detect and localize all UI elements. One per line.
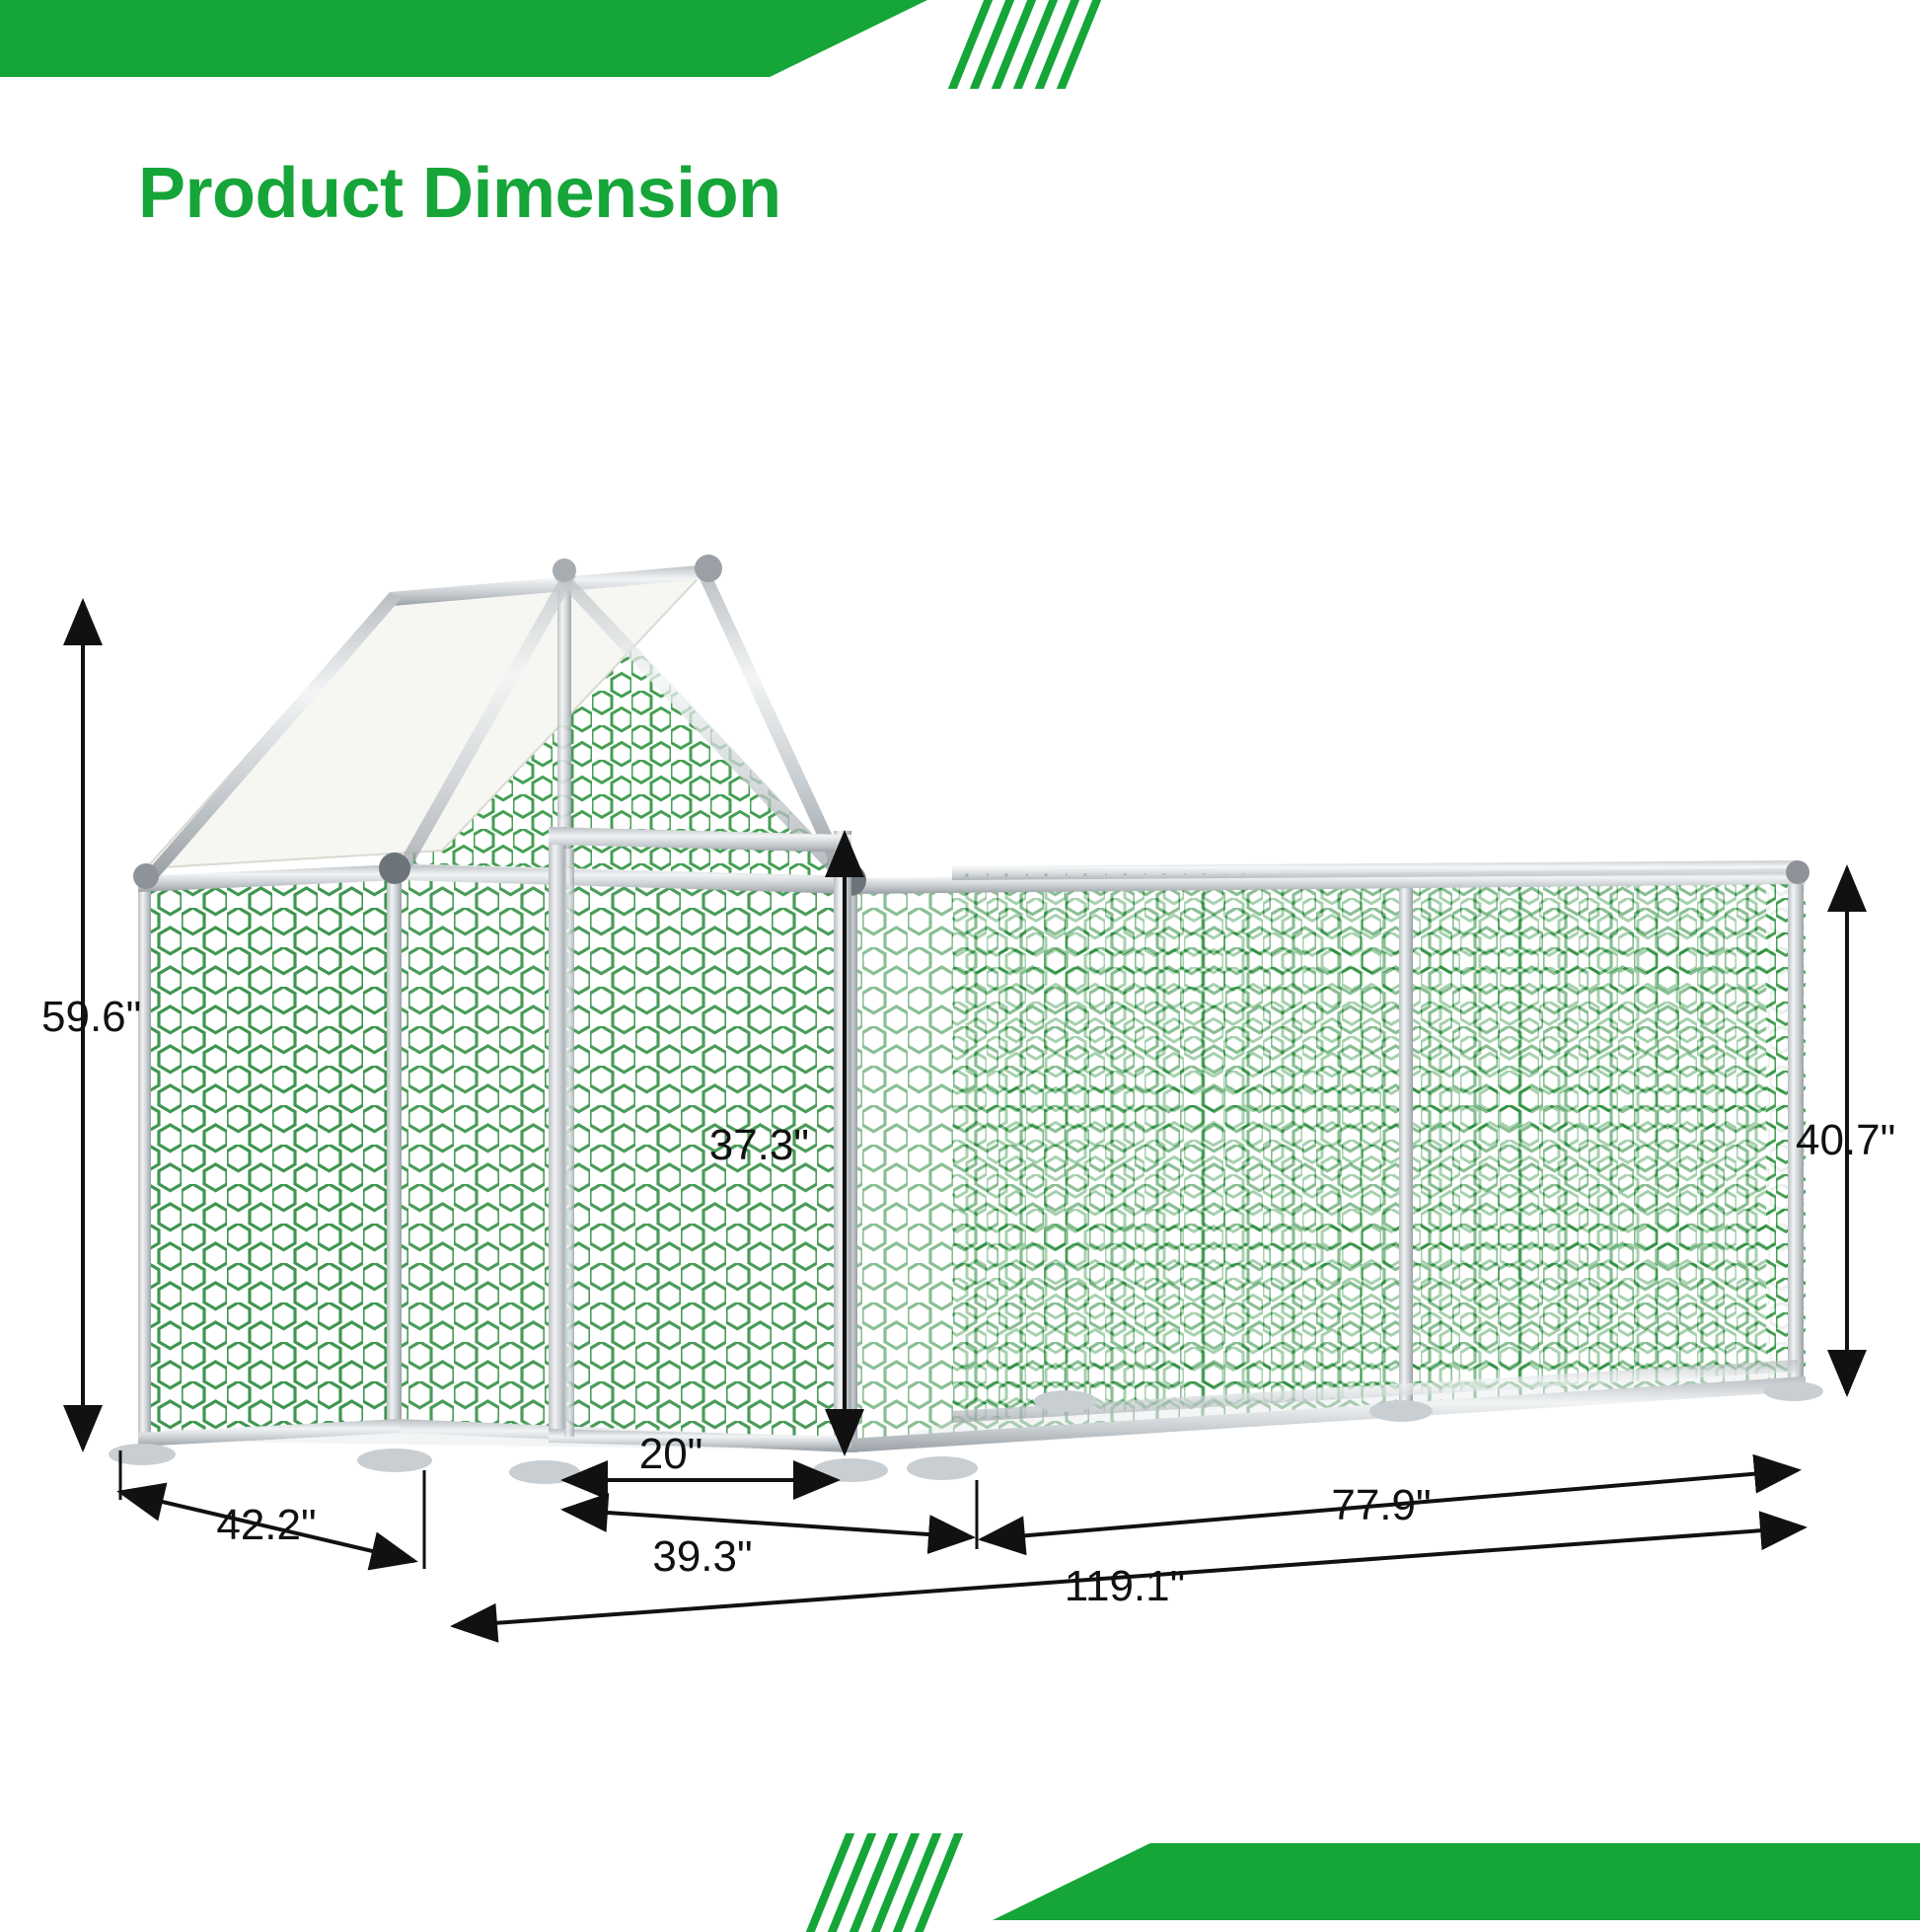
coop-left-mesh-panel: [138, 870, 395, 1441]
pole-run-mid: [1399, 876, 1413, 1409]
joint-node: [379, 853, 410, 884]
run-section: [850, 868, 1806, 1450]
label-run-height: 40.7": [1796, 1116, 1895, 1164]
foot-pad: [1034, 1390, 1097, 1412]
label-door-width: 20": [639, 1430, 703, 1478]
foot-pad: [1369, 1400, 1433, 1422]
foot-pad: [357, 1449, 432, 1472]
door-post-left: [549, 827, 566, 1439]
joint-node: [1786, 860, 1809, 884]
joint-node: [133, 863, 159, 889]
label-coop-length: 39.3": [652, 1532, 752, 1581]
product-diagram: 59.6" 40.7" 37.3" 20" 42.2" 39.3" 77.9" …: [0, 0, 1920, 1920]
pole-ridge: [557, 570, 571, 866]
run-front-mesh-panel: [850, 873, 1806, 1450]
label-overall-height: 59.6": [41, 993, 141, 1041]
foot-pad: [1764, 1381, 1823, 1401]
door-inner-rail: [564, 849, 574, 1437]
pole-left-back: [138, 876, 151, 1441]
product-dimension-page: Product Dimension: [0, 0, 1920, 1920]
label-total-length: 119.1": [1065, 1562, 1185, 1610]
joint-node: [553, 558, 576, 582]
label-door-height: 37.3": [709, 1121, 809, 1169]
dim-line-coop-length: [564, 1510, 972, 1537]
foot-pad: [109, 1444, 176, 1465]
foot-pad: [907, 1456, 978, 1480]
coop-illustration: [109, 555, 1823, 1484]
label-depth: 42.2": [216, 1501, 316, 1549]
joint-node: [695, 555, 722, 582]
label-run-length: 77.9": [1331, 1481, 1431, 1529]
pole-left-front: [387, 866, 402, 1427]
